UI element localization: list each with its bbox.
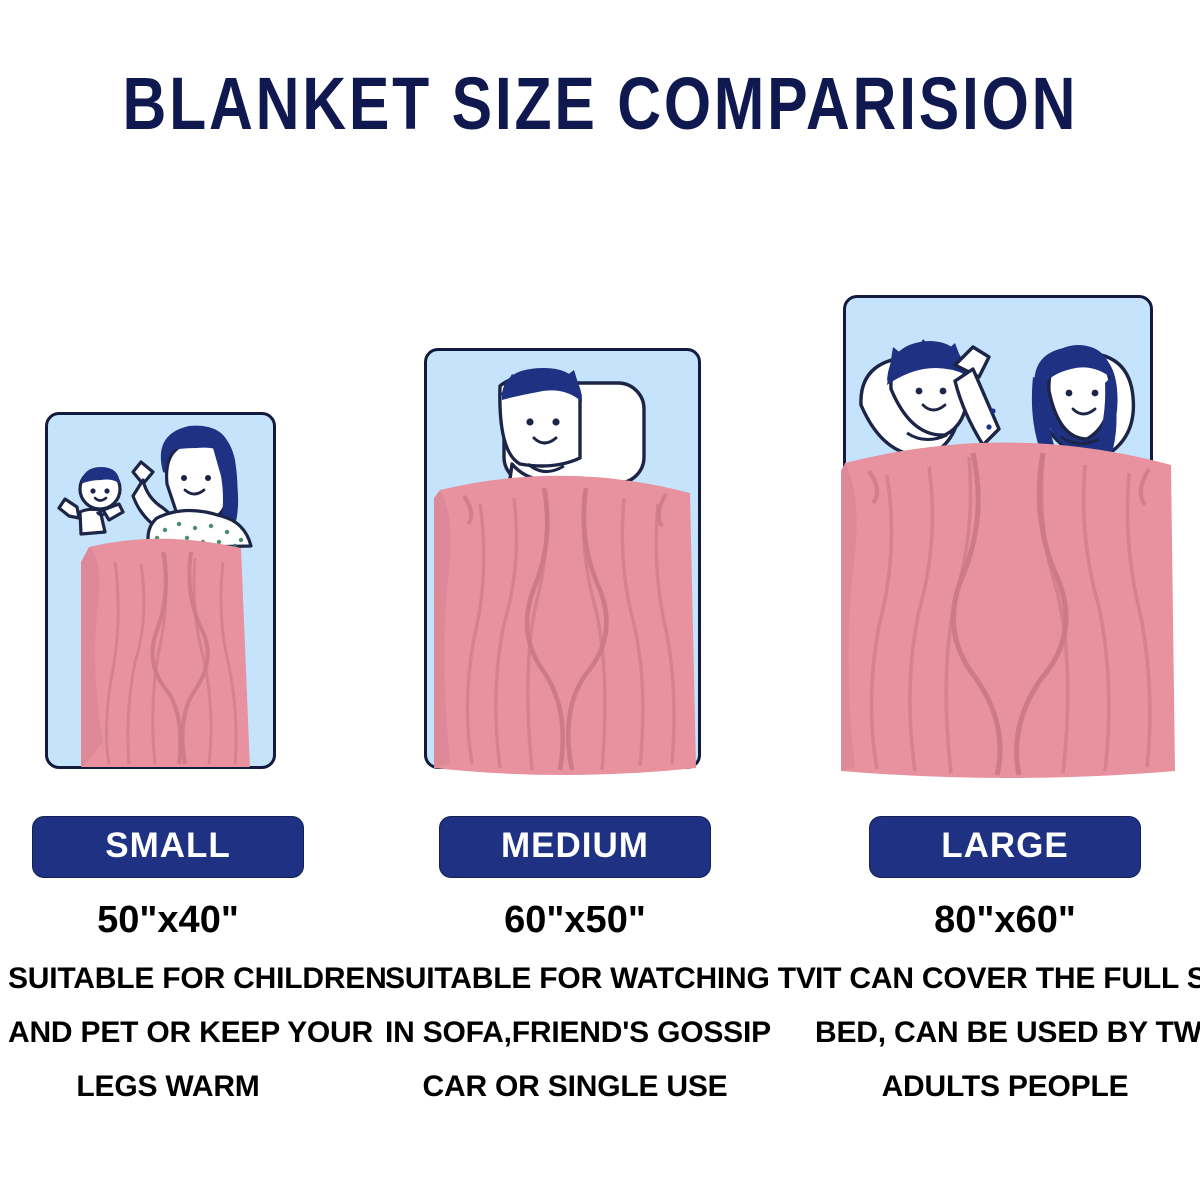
description-line: SUITABLE FOR CHILDREN xyxy=(8,952,328,1006)
column-medium: MEDIUM 60"x50" SUITABLE FOR WATCHING TV … xyxy=(385,816,765,1114)
description-line: BED, CAN BE USED BY TWO xyxy=(815,1006,1195,1060)
description-line: LEGS WARM xyxy=(8,1060,328,1114)
page-title-text: BLANKET SIZE COMPARISION xyxy=(122,59,1078,146)
dimensions-small: 50"x40" xyxy=(8,896,328,944)
description-large: IT CAN COVER THE FULL SIZE BED, CAN BE U… xyxy=(815,952,1195,1114)
illustration-panel-medium xyxy=(424,348,701,769)
description-line: IN SOFA,FRIEND'S GOSSIP xyxy=(385,1006,765,1060)
description-line: SUITABLE FOR WATCHING TV xyxy=(385,952,765,1006)
description-line: AND PET OR KEEP YOUR xyxy=(8,1006,328,1060)
page-title: BLANKET SIZE COMPARISION xyxy=(0,64,1200,142)
description-small: SUITABLE FOR CHILDREN AND PET OR KEEP YO… xyxy=(8,952,328,1114)
blanket-size-comparison-infographic: BLANKET SIZE COMPARISION xyxy=(0,0,1200,1200)
illustration-panel-large xyxy=(843,295,1153,769)
illustration-panel-small xyxy=(45,412,276,769)
size-badge-small: SMALL xyxy=(32,816,304,878)
description-medium: SUITABLE FOR WATCHING TV IN SOFA,FRIEND'… xyxy=(385,952,765,1114)
description-line: ADULTS PEOPLE xyxy=(815,1060,1195,1114)
dimensions-medium: 60"x50" xyxy=(385,896,765,944)
dimensions-large: 80"x60" xyxy=(815,896,1195,944)
description-line: CAR OR SINGLE USE xyxy=(385,1060,765,1114)
size-badge-medium: MEDIUM xyxy=(439,816,711,878)
column-large: LARGE 80"x60" IT CAN COVER THE FULL SIZE… xyxy=(815,816,1195,1114)
description-line: IT CAN COVER THE FULL SIZE xyxy=(815,952,1195,1006)
size-badge-large: LARGE xyxy=(869,816,1141,878)
column-small: SMALL 50"x40" SUITABLE FOR CHILDREN AND … xyxy=(8,816,328,1114)
